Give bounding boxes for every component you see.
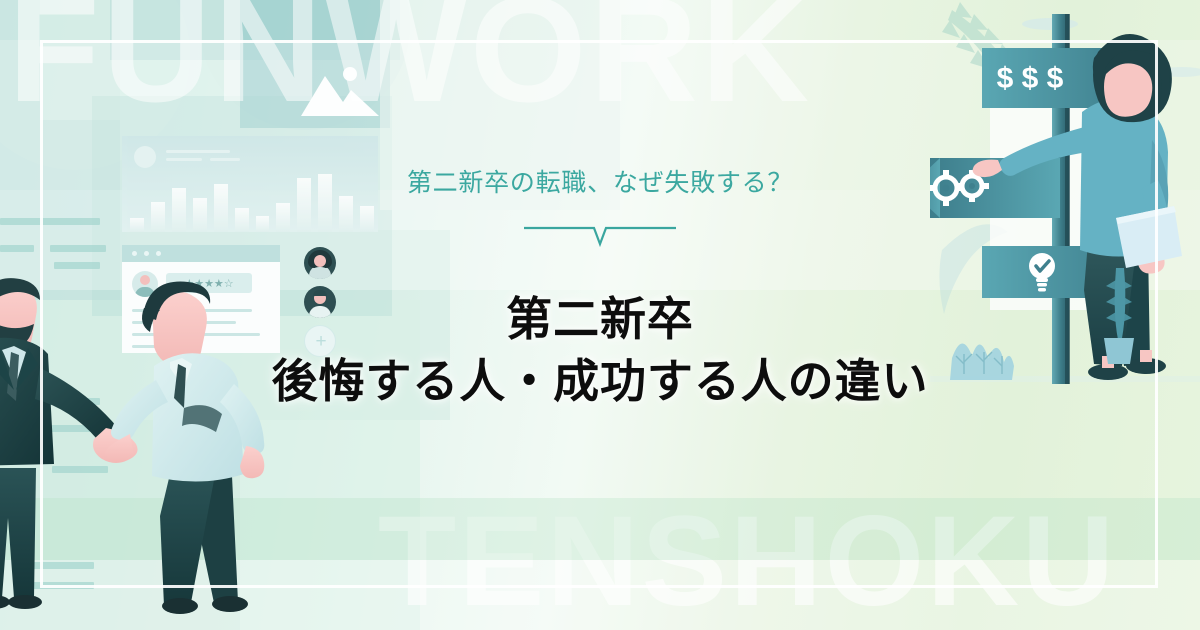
title-line-1: 第二新卒 bbox=[0, 288, 1200, 350]
page-title: 第二新卒 後悔する人・成功する人の違い bbox=[0, 288, 1200, 412]
title-line-2: 後悔する人・成功する人の違い bbox=[0, 350, 1200, 412]
banner-canvas: FUNWORK TENSHOKU ★★★★☆ bbox=[0, 0, 1200, 630]
headline-block: 第二新卒の転職、なぜ失敗する？ 第二新卒 後悔する人・成功する人の違い bbox=[0, 0, 1200, 630]
subtitle: 第二新卒の転職、なぜ失敗する？ bbox=[0, 163, 1200, 199]
notched-line-divider bbox=[524, 222, 676, 253]
